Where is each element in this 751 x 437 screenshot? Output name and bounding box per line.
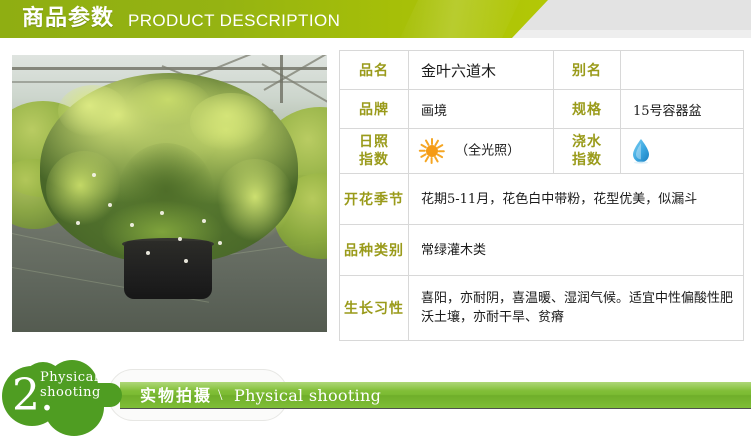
header-green-shine: [400, 0, 520, 38]
spec-value-brand: 画境: [409, 90, 554, 129]
table-row: 品种类别 常绿灌木类: [340, 225, 744, 276]
spec-label-watering-line2: 指数: [554, 151, 620, 169]
spec-label-alias: 别名: [554, 51, 621, 90]
spec-value-growth-habit: 喜阳，亦耐阴，喜温暖、湿润气候。适宜中性偏酸性肥沃土壤，亦耐干旱、贫瘠: [409, 276, 744, 341]
spec-label-sunlight-line1: 日照: [340, 133, 408, 151]
banner-separator: \: [218, 384, 222, 407]
water-drop-icon: [631, 138, 651, 164]
spec-value-bloom-season: 花期5-11月，花色白中带粉，花型优美，似漏斗: [409, 174, 744, 225]
banner-title-en: Physical shooting: [234, 384, 381, 407]
spec-value-watering-index: [621, 129, 744, 174]
spec-label-growth-habit: 生长习性: [340, 276, 409, 341]
badge-label-line1: Physical: [40, 370, 101, 385]
spec-label-specification: 规格: [554, 90, 621, 129]
blossom: [146, 251, 150, 255]
blossom: [92, 173, 96, 177]
spec-value-variety-type: 常绿灌木类: [409, 225, 744, 276]
spec-value-alias: [621, 51, 744, 90]
spec-label-sunlight-line2: 指数: [340, 151, 408, 169]
blossom: [130, 223, 134, 227]
spec-value-specification: 15号容器盆: [621, 90, 744, 129]
greenhouse-post: [280, 55, 283, 103]
section-banner: 2. Physical shooting 实物拍摄 \ Physical sho…: [0, 360, 751, 437]
spec-label-watering-index: 浇水 指数: [554, 129, 621, 174]
spec-label-brand: 品牌: [340, 90, 409, 129]
blossom: [218, 241, 222, 245]
spec-value-sunlight-text: （全光照）: [455, 144, 520, 159]
sun-icon: [419, 138, 445, 164]
spec-label-sunlight-index: 日照 指数: [340, 129, 409, 174]
banner-title-cn: 实物拍摄: [140, 384, 212, 407]
page-title-en: PRODUCT DESCRIPTION: [128, 9, 340, 33]
table-row: 开花季节 花期5-11月，花色白中带粉，花型优美，似漏斗: [340, 174, 744, 225]
spec-label-variety-type: 品种类别: [340, 225, 409, 276]
blossom: [184, 259, 188, 263]
table-row: 品牌 画境 规格 15号容器盆: [340, 90, 744, 129]
nursery-pot: [124, 241, 212, 299]
spec-value-product-name: 金叶六道木: [409, 51, 554, 90]
foliage-highlight: [216, 159, 294, 243]
main-shrub: [40, 73, 298, 263]
table-row: 生长习性 喜阳，亦耐阴，喜温暖、湿润气候。适宜中性偏酸性肥沃土壤，亦耐干旱、贫瘠: [340, 276, 744, 341]
foliage-highlight: [126, 79, 210, 125]
spec-value-sunlight-index: （全光照）: [409, 129, 554, 174]
foliage-highlight: [58, 85, 128, 137]
blossom: [202, 219, 206, 223]
page-header: 商品参数 PRODUCT DESCRIPTION: [0, 0, 751, 44]
blossom: [108, 203, 112, 207]
photo-canvas: [12, 55, 327, 332]
table-row: 日照 指数 （全光: [340, 129, 744, 174]
banner-bar-shine: [120, 382, 751, 391]
spec-label-bloom-season: 开花季节: [340, 174, 409, 225]
spec-label-watering-line1: 浇水: [554, 133, 620, 151]
product-photo: [12, 55, 327, 332]
spec-label-product-name: 品名: [340, 51, 409, 90]
product-spec-table: 品名 金叶六道木 别名 品牌 画境 规格 15号容器盆 日照 指数: [339, 50, 744, 341]
badge-label: Physical shooting: [40, 370, 101, 400]
blossom: [76, 221, 80, 225]
blossom: [178, 237, 182, 241]
blossom: [160, 211, 164, 215]
badge-label-line2: shooting: [40, 385, 101, 400]
table-row: 品名 金叶六道木 别名: [340, 51, 744, 90]
page-title-cn: 商品参数: [22, 4, 114, 34]
